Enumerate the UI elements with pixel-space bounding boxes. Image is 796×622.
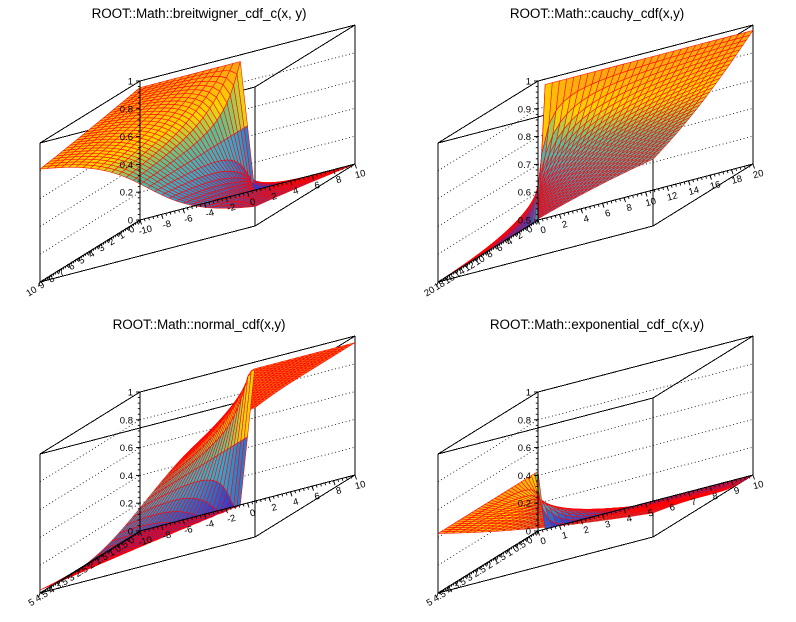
tick-label: 4 — [582, 213, 590, 225]
tick-label: -8 — [161, 219, 172, 232]
tick-mark — [710, 175, 711, 177]
tick-label: 3.5 — [53, 576, 70, 592]
tick-mark — [166, 213, 167, 215]
tick-label: 0.8 — [518, 415, 531, 426]
tick-label: 1.5 — [491, 551, 508, 567]
tick-mark — [243, 504, 244, 506]
tick-mark — [551, 528, 552, 530]
plot-pad-normal[interactable]: ROOT::Math::normal_cdf(x,y) -10-8-6-4-20… — [0, 311, 398, 622]
tick-mark — [581, 209, 582, 211]
tick-mark — [346, 477, 347, 479]
tick-mark — [732, 170, 733, 172]
tick-mark — [325, 483, 326, 485]
tick-label: 2 — [270, 502, 278, 514]
grid-lines — [438, 336, 753, 593]
tick-mark — [338, 479, 339, 481]
plot-pad-breitwigner[interactable]: ROOT::Math::breitwigner_cdf_c(x, y) -10-… — [0, 0, 398, 311]
surface-plot-exponential: 01234567891054.543.532.521.510.5000.20.4… — [398, 311, 796, 622]
tick-mark — [321, 484, 322, 486]
tick-mark — [620, 199, 621, 201]
tick-mark — [192, 207, 193, 209]
tick-mark — [334, 481, 335, 483]
tick-mark — [316, 485, 317, 487]
tick-mark — [282, 494, 283, 496]
grid-line — [40, 192, 140, 254]
tick-mark — [572, 211, 573, 213]
tick-mark — [607, 202, 608, 204]
tick-label: 0 — [128, 216, 133, 227]
tick-mark — [736, 168, 737, 170]
tick-label: 20 — [752, 168, 765, 181]
tick-label: 12 — [666, 190, 679, 203]
tick-label: 2.5 — [471, 564, 488, 580]
tick-mark — [646, 192, 647, 194]
tick-mark — [628, 196, 629, 198]
tick-label: 0 — [526, 527, 531, 538]
tick-mark — [663, 188, 664, 190]
tick-mark — [269, 497, 270, 499]
tick-mark — [697, 179, 698, 181]
tick-mark — [278, 495, 279, 497]
surface-plot-normal: -10-8-6-4-2024681054.543.532.521.510.500… — [0, 311, 398, 622]
tick-mark — [542, 530, 543, 532]
tick-label: -6 — [183, 213, 194, 226]
tick-mark — [650, 191, 651, 193]
tick-mark — [542, 219, 543, 221]
grid-line — [538, 364, 753, 420]
surface-mesh — [40, 343, 355, 590]
tick-mark — [706, 176, 707, 178]
tick-label: 0.8 — [120, 104, 133, 115]
tick-mark — [680, 183, 681, 185]
surface-mesh — [40, 61, 355, 208]
tick-label: 1 — [128, 388, 133, 399]
tick-mark — [187, 208, 188, 210]
tick-mark — [684, 182, 685, 184]
tick-label: 2 — [561, 219, 569, 231]
tick-label: 2 — [515, 230, 525, 242]
tick-label: 14 — [687, 185, 700, 198]
tick-label: 1 — [561, 530, 569, 542]
tick-mark — [183, 209, 184, 211]
tick-mark — [144, 219, 145, 221]
figure-canvas: ROOT::Math::breitwigner_cdf_c(x, y) -10-… — [0, 0, 796, 622]
tick-label: 1 — [526, 388, 531, 399]
tick-label: 8 — [485, 249, 495, 261]
tick-label: -4 — [204, 207, 215, 220]
tick-mark — [355, 475, 357, 480]
tick-label: 0 — [128, 527, 133, 538]
tick-label: 0 — [249, 508, 257, 520]
tick-mark — [162, 214, 163, 216]
tick-mark — [615, 200, 616, 202]
tick-mark — [598, 204, 599, 206]
tick-mark — [179, 210, 180, 212]
tick-label: 0.4 — [120, 160, 133, 171]
tick-label: 6 — [67, 261, 77, 273]
tick-label: -4 — [204, 518, 215, 531]
plot-pad-exponential[interactable]: ROOT::Math::exponential_cdf_c(x,y) 01234… — [398, 311, 796, 622]
tick-mark — [719, 173, 720, 175]
tick-mark — [329, 482, 330, 484]
plot-pad-cauchy[interactable]: ROOT::Math::cauchy_cdf(x,y) 024681012141… — [398, 0, 796, 311]
tick-label: 1 — [526, 77, 531, 88]
tick-label: 10 — [644, 196, 657, 209]
frame-edge — [255, 25, 355, 87]
tick-mark — [174, 211, 175, 213]
tick-mark — [701, 177, 702, 179]
tick-label: -10 — [137, 224, 153, 238]
tick-mark — [624, 198, 625, 200]
tick-mark — [637, 194, 638, 196]
tick-mark — [295, 491, 296, 493]
tick-label: 0.2 — [120, 188, 133, 199]
tick-label: 10 — [752, 479, 765, 492]
tick-label: 0.5 — [511, 539, 528, 555]
tick-label: 0 — [539, 225, 547, 237]
tick-label: 4 — [505, 236, 515, 248]
axes-frame — [438, 336, 753, 593]
surface-mesh — [438, 30, 753, 282]
tick-label: 0.7 — [518, 160, 531, 171]
tick-label: 0.5 — [518, 216, 531, 227]
tick-label: 10 — [354, 168, 367, 181]
tick-mark — [248, 503, 249, 505]
tick-mark — [170, 212, 171, 214]
tick-label: 2 — [107, 236, 117, 248]
tick-label: 2 — [582, 524, 590, 536]
tick-mark — [308, 487, 309, 489]
tick-label: 10 — [24, 284, 39, 299]
tick-label: 3 — [97, 242, 107, 254]
tick-label: 0.9 — [518, 104, 531, 115]
frame-edge — [255, 475, 355, 537]
tick-label: 9 — [37, 280, 47, 292]
tick-mark — [551, 217, 552, 219]
tick-label: 1 — [117, 230, 127, 242]
tick-label: -10 — [137, 535, 153, 549]
tick-label: 3 — [604, 519, 612, 531]
tick-mark — [676, 184, 677, 186]
tick-mark — [744, 166, 745, 168]
tick-mark — [153, 217, 154, 219]
tick-mark — [611, 201, 612, 203]
tick-label: 6 — [604, 208, 612, 220]
tick-label: 0.8 — [518, 132, 531, 143]
tick-label: 0.6 — [120, 443, 133, 454]
tick-mark — [299, 490, 300, 492]
tick-mark — [723, 172, 724, 174]
tick-mark — [260, 500, 261, 502]
tick-mark — [641, 193, 642, 195]
tick-mark — [265, 499, 266, 501]
tick-label: 9 — [733, 485, 741, 497]
tick-mark — [667, 186, 668, 188]
grid-line — [538, 419, 753, 475]
tick-label: 0.4 — [518, 471, 531, 482]
tick-label: 0.6 — [518, 443, 531, 454]
surface-mesh — [438, 471, 753, 533]
tick-mark — [740, 167, 741, 169]
tick-mark — [560, 214, 561, 216]
tick-label: 0.6 — [518, 188, 531, 199]
tick-mark — [303, 488, 304, 490]
frame-edge — [653, 336, 753, 398]
tick-mark — [594, 205, 595, 207]
tick-mark — [633, 195, 634, 197]
tick-label: 0.8 — [120, 415, 133, 426]
tick-label: 1 — [128, 77, 133, 88]
tick-mark — [286, 493, 287, 495]
tick-label: 6 — [495, 242, 505, 254]
tick-label: 18 — [730, 174, 743, 187]
tick-label: 8 — [47, 273, 57, 285]
tick-mark — [693, 180, 694, 182]
tick-mark — [342, 478, 343, 480]
tick-mark — [252, 502, 253, 504]
tick-mark — [714, 174, 715, 176]
tick-mark — [157, 216, 158, 218]
tick-mark — [753, 475, 755, 480]
tick-mark — [547, 529, 548, 531]
tick-mark — [689, 181, 690, 183]
tick-label: 4 — [292, 496, 300, 508]
tick-mark — [585, 208, 586, 210]
tick-label: -2 — [226, 513, 237, 526]
tick-label: 4 — [87, 249, 97, 261]
tick-label: 0 — [539, 536, 547, 548]
tick-label: 0.2 — [518, 499, 531, 510]
axis-tick-labels: 01234567891054.543.532.521.510.5000.20.4… — [425, 388, 765, 609]
tick-label: 5 — [77, 255, 87, 267]
tick-label: 16 — [709, 179, 722, 192]
tick-mark — [753, 164, 755, 169]
surface-plot-breitwigner: -10-8-6-4-2024681010987654321000.20.40.6… — [0, 0, 398, 311]
tick-mark — [547, 218, 548, 220]
tick-mark — [149, 218, 150, 220]
tick-mark — [555, 216, 556, 218]
tick-mark — [727, 171, 728, 173]
tick-label: 8 — [625, 202, 633, 214]
tick-mark — [590, 207, 591, 209]
tick-label: -6 — [183, 524, 194, 537]
tick-label: 0.2 — [120, 499, 133, 510]
tick-label: 8 — [335, 174, 343, 186]
tick-mark — [355, 164, 357, 169]
tick-mark — [312, 486, 313, 488]
tick-mark — [564, 213, 565, 215]
tick-mark — [603, 203, 604, 205]
tick-mark — [568, 212, 569, 214]
tick-label: 0.6 — [120, 132, 133, 143]
tick-label: 3.5 — [451, 576, 468, 592]
tick-mark — [654, 190, 655, 192]
tick-mark — [555, 527, 556, 529]
tick-label: 0.4 — [120, 471, 133, 482]
tick-label: 8 — [335, 485, 343, 497]
tick-mark — [577, 210, 578, 212]
tick-mark — [658, 189, 659, 191]
tick-mark — [273, 496, 274, 498]
tick-mark — [671, 185, 672, 187]
surface-plot-cauchy: 02468101214161820201816141210864200.50.6… — [398, 0, 796, 311]
tick-mark — [256, 501, 257, 503]
tick-label: 10 — [354, 479, 367, 492]
tick-mark — [291, 492, 292, 494]
